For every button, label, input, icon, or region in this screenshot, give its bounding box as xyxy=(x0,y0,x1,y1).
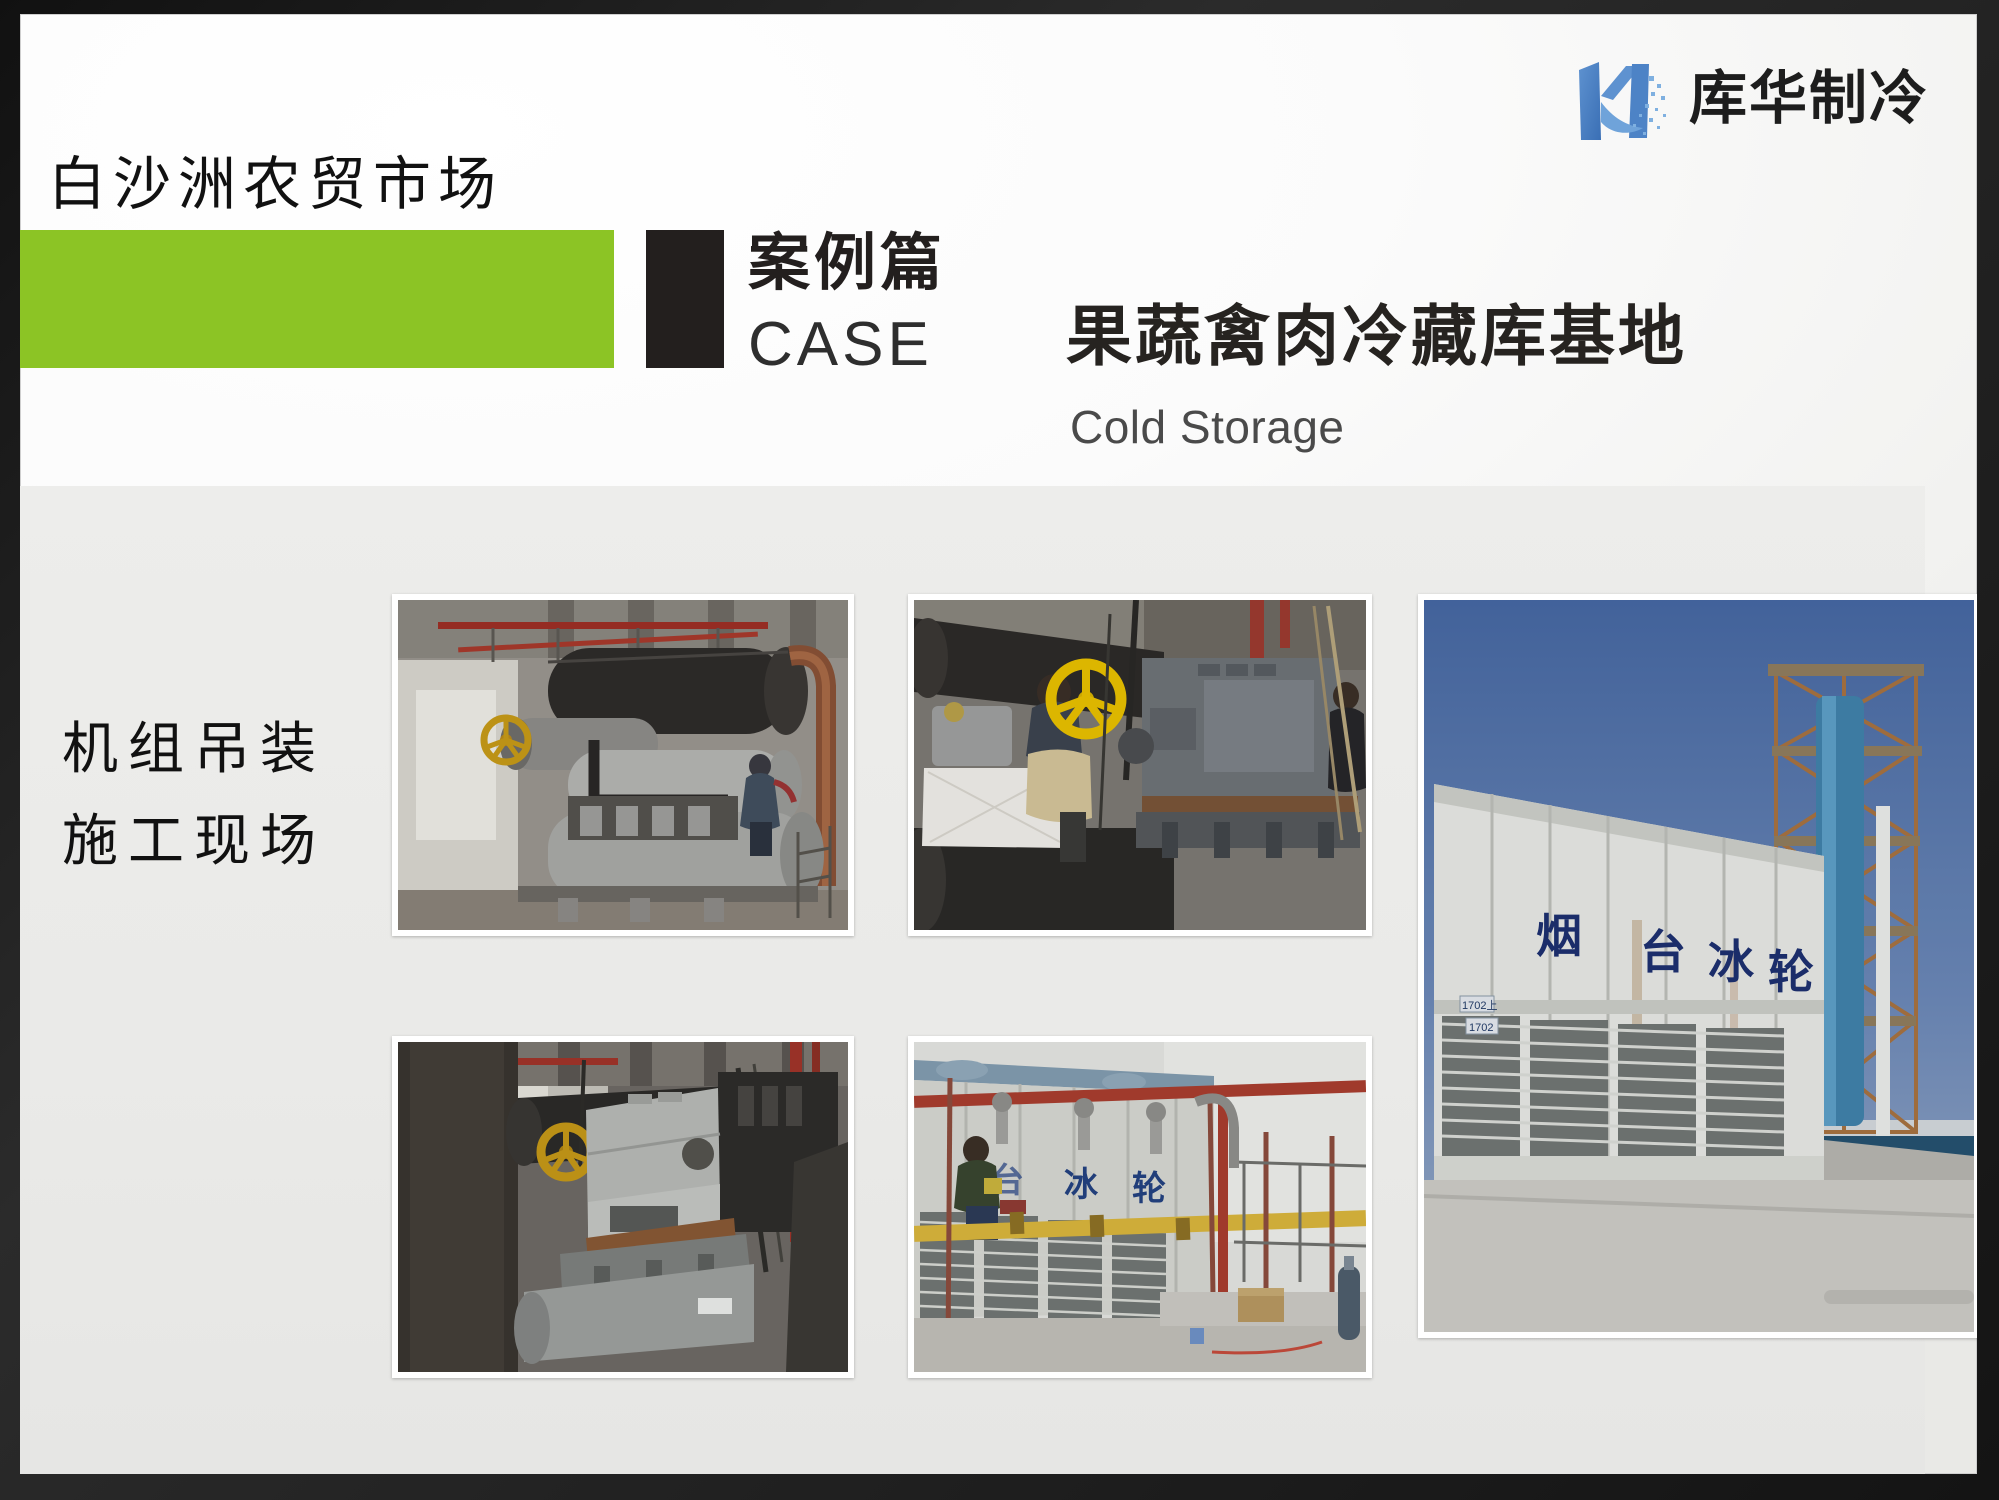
green-accent-bar xyxy=(20,230,614,368)
photo-evaporative-condenser-pipework[interactable]: 台 冰 轮 xyxy=(908,1036,1372,1378)
slide-header: 库华制冷 白沙洲农贸市场 案例篇 CASE 果蔬禽肉冷藏库基地 Cold Sto… xyxy=(20,14,1977,486)
photo-4-image xyxy=(398,1042,848,1372)
slide: 库华制冷 白沙洲农贸市场 案例篇 CASE 果蔬禽肉冷藏库基地 Cold Sto… xyxy=(20,14,1977,1474)
side-caption-line-1: 机组吊装 xyxy=(62,704,326,796)
side-caption: 机组吊装 施工现场 xyxy=(62,704,326,889)
page-title: 白沙洲农贸市场 xyxy=(48,154,503,215)
brand-logo-text: 库华制冷 xyxy=(1689,69,1929,127)
section-heading-en: Cold Storage xyxy=(1070,404,1345,450)
photo-compressor-skid-hoisting[interactable] xyxy=(392,1036,854,1378)
photo-3-image: 烟 台 冰 轮 1702上 1702 xyxy=(1424,600,1974,1332)
photo-chiller-units-overhead-piping[interactable] xyxy=(392,594,854,936)
slide-outer-frame: 库华制冷 白沙洲农贸市场 案例篇 CASE 果蔬禽肉冷藏库基地 Cold Sto… xyxy=(0,0,1999,1500)
photo-worker-on-compressor-unit[interactable] xyxy=(908,594,1372,936)
photo-2-image xyxy=(914,600,1366,930)
section-label-en: CASE xyxy=(748,314,933,376)
brand-logo: 库华制冷 xyxy=(1569,52,1929,144)
photo-1-image xyxy=(398,600,848,930)
photo-cooling-tower-yantai-binglun[interactable]: 烟 台 冰 轮 1702上 1702 xyxy=(1418,594,1977,1338)
photo-5-image: 台 冰 轮 xyxy=(914,1042,1366,1372)
section-heading-cn: 果蔬禽肉冷藏库基地 xyxy=(1066,304,1687,370)
section-label-cn: 案例篇 xyxy=(748,232,946,294)
side-caption-line-2: 施工现场 xyxy=(62,796,326,888)
kh-droplet-logo-icon xyxy=(1569,52,1675,144)
black-accent-block xyxy=(646,230,724,368)
